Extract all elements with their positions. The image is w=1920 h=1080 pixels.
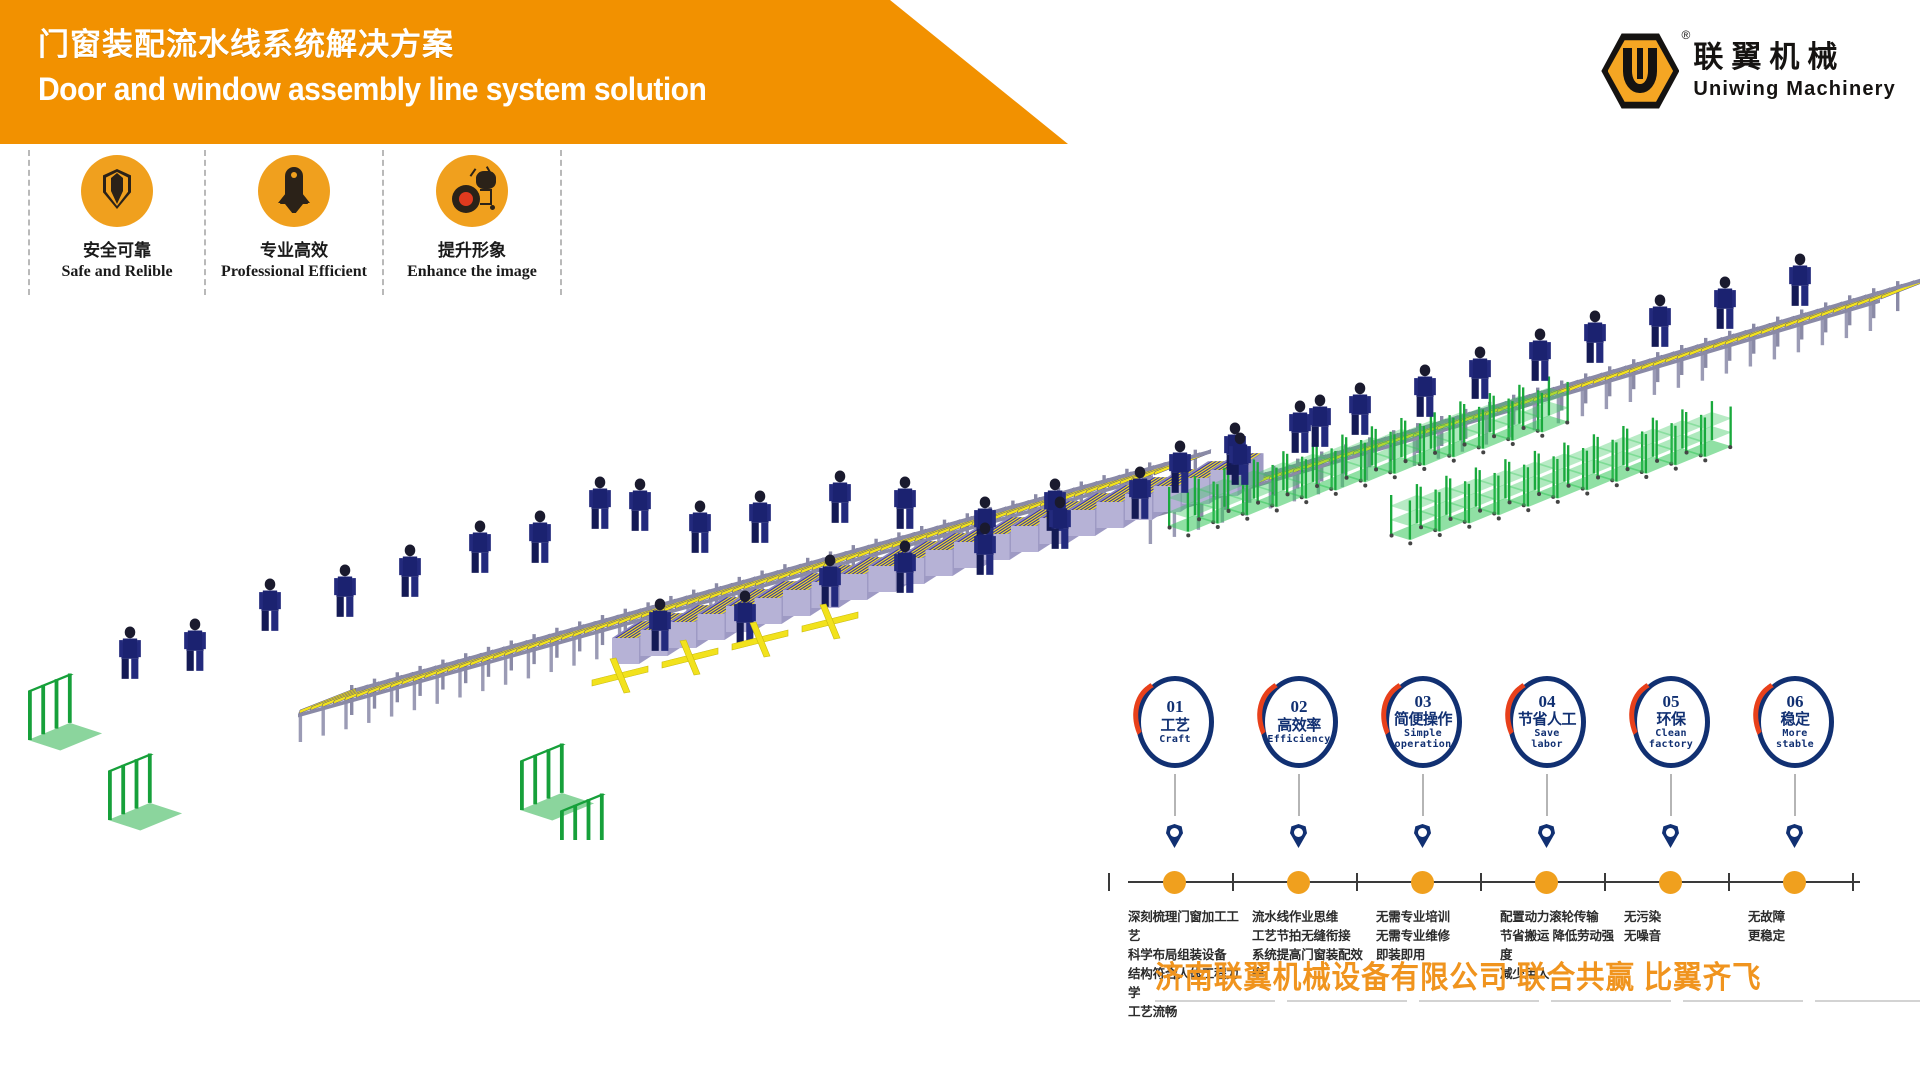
logo-name-en: Uniwing Machinery — [1693, 77, 1896, 101]
header-titles: 门窗装配流水线系统解决方案 Door and window assembly l… — [38, 26, 749, 109]
worker-figure — [1469, 346, 1491, 398]
worker-figure — [529, 510, 551, 562]
timeline-dot — [1287, 871, 1310, 894]
timeline-number: 05 — [1663, 693, 1680, 711]
timeline-circle-01[interactable]: 01工艺Craft — [1136, 676, 1214, 768]
timeline-dot — [1659, 871, 1682, 894]
panel-rack — [28, 674, 102, 751]
worker-figure — [1714, 276, 1736, 328]
timeline-number: 03 — [1415, 693, 1432, 711]
panel-rack — [108, 754, 182, 831]
worker-figure — [629, 478, 651, 530]
worker-figure — [184, 618, 206, 670]
timeline-number: 01 — [1167, 698, 1184, 716]
timeline-circle-03[interactable]: 03简便操作Simple operation — [1384, 676, 1462, 768]
timeline-title-cn: 环保 — [1656, 712, 1685, 728]
timeline-number: 02 — [1291, 698, 1308, 716]
timeline-tick — [1356, 873, 1358, 891]
timeline-tick — [1108, 873, 1110, 891]
company-logo: ® 联翼机械 Uniwing Machinery — [1601, 32, 1896, 110]
timeline-stem — [1174, 774, 1176, 816]
timeline-axis — [1128, 881, 1860, 883]
hexagon-u-logo-icon: ® — [1601, 32, 1679, 110]
slogan-text: 济南联翼机械设备有限公司 联合共赢 比翼齐飞 — [1155, 952, 1836, 997]
timeline-stem — [1670, 774, 1672, 816]
worker-figure — [1649, 294, 1671, 346]
timeline-pin-marker — [1290, 824, 1307, 848]
timeline-tick — [1604, 873, 1606, 891]
timeline-title-cn: 高效率 — [1277, 718, 1321, 734]
timeline-title-en: Efficiency — [1267, 735, 1330, 746]
timeline-dot — [1163, 871, 1186, 894]
worker-figure — [829, 470, 851, 522]
timeline-dot — [1535, 871, 1558, 894]
timeline-pin-marker — [1166, 824, 1183, 848]
worker-figure — [589, 476, 611, 528]
worker-figure — [399, 544, 421, 596]
worker-figure — [1309, 394, 1331, 446]
timeline-pin-marker — [1786, 824, 1803, 848]
worker-figure — [689, 500, 711, 552]
panel-rack — [520, 744, 594, 821]
page-title-en: Door and window assembly line system sol… — [38, 69, 706, 109]
worker-figure — [1414, 364, 1436, 416]
timeline-circle-06[interactable]: 06稳定More stable — [1756, 676, 1834, 768]
timeline-number: 06 — [1787, 693, 1804, 711]
timeline-stem — [1794, 774, 1796, 816]
timeline-title-en: Craft — [1159, 735, 1191, 746]
timeline-title-cn: 稳定 — [1780, 712, 1809, 728]
timeline-number: 04 — [1539, 693, 1556, 711]
worker-figure — [894, 476, 916, 528]
timeline-title-en: More stable — [1776, 729, 1814, 751]
timeline-description: 无污染 无噪音 — [1624, 908, 1744, 946]
logo-name-cn: 联翼机械 — [1693, 41, 1896, 75]
timeline-pin-marker — [1662, 824, 1679, 848]
timeline-title-en: Save labor — [1531, 729, 1563, 751]
timeline-circle-05[interactable]: 05环保Clean factory — [1632, 676, 1710, 768]
timeline-pin-marker — [1414, 824, 1431, 848]
worker-figure — [1789, 253, 1811, 305]
worker-figure — [1584, 310, 1606, 362]
page-title-cn: 门窗装配流水线系统解决方案 — [38, 26, 749, 65]
timeline-dot — [1783, 871, 1806, 894]
worker-figure — [334, 564, 356, 616]
worker-figure — [259, 578, 281, 630]
timeline-tick — [1480, 873, 1482, 891]
timeline-title-cn: 简便操作 — [1394, 712, 1452, 728]
timeline-stem — [1422, 774, 1424, 816]
worker-figure — [1529, 328, 1551, 380]
worker-figure — [119, 626, 141, 678]
timeline-circle-04[interactable]: 04节省人工Save labor — [1508, 676, 1586, 768]
benefits-timeline: 01工艺Craft02高效率Efficiency03简便操作Simple ope… — [1128, 676, 1908, 966]
worker-figure — [469, 520, 491, 572]
timeline-description: 无故障 更稳定 — [1748, 908, 1868, 946]
timeline-title-cn: 工艺 — [1160, 718, 1189, 734]
timeline-title-cn: 节省人工 — [1518, 712, 1576, 728]
timeline-stem — [1546, 774, 1548, 816]
timeline-title-en: Simple operation — [1395, 729, 1452, 751]
timeline-dot — [1411, 871, 1434, 894]
worker-figure — [1289, 400, 1311, 452]
timeline-tick — [1852, 873, 1854, 891]
timeline-tick — [1232, 873, 1234, 891]
lower-assembly-table-line — [612, 453, 1264, 664]
registered-mark: ® — [1682, 28, 1691, 42]
timeline-stem — [1298, 774, 1300, 816]
timeline-circle-02[interactable]: 02高效率Efficiency — [1260, 676, 1338, 768]
worker-figure — [1349, 382, 1371, 434]
timeline-title-en: Clean factory — [1649, 729, 1693, 751]
timeline-pin-marker — [1538, 824, 1555, 848]
worker-figure — [749, 490, 771, 542]
timeline-tick — [1728, 873, 1730, 891]
timeline-circles: 01工艺Craft02高效率Efficiency03简便操作Simple ope… — [1128, 676, 1908, 806]
footer-slogan: 济南联翼机械设备有限公司 联合共赢 比翼齐飞 — [1155, 952, 1895, 1012]
